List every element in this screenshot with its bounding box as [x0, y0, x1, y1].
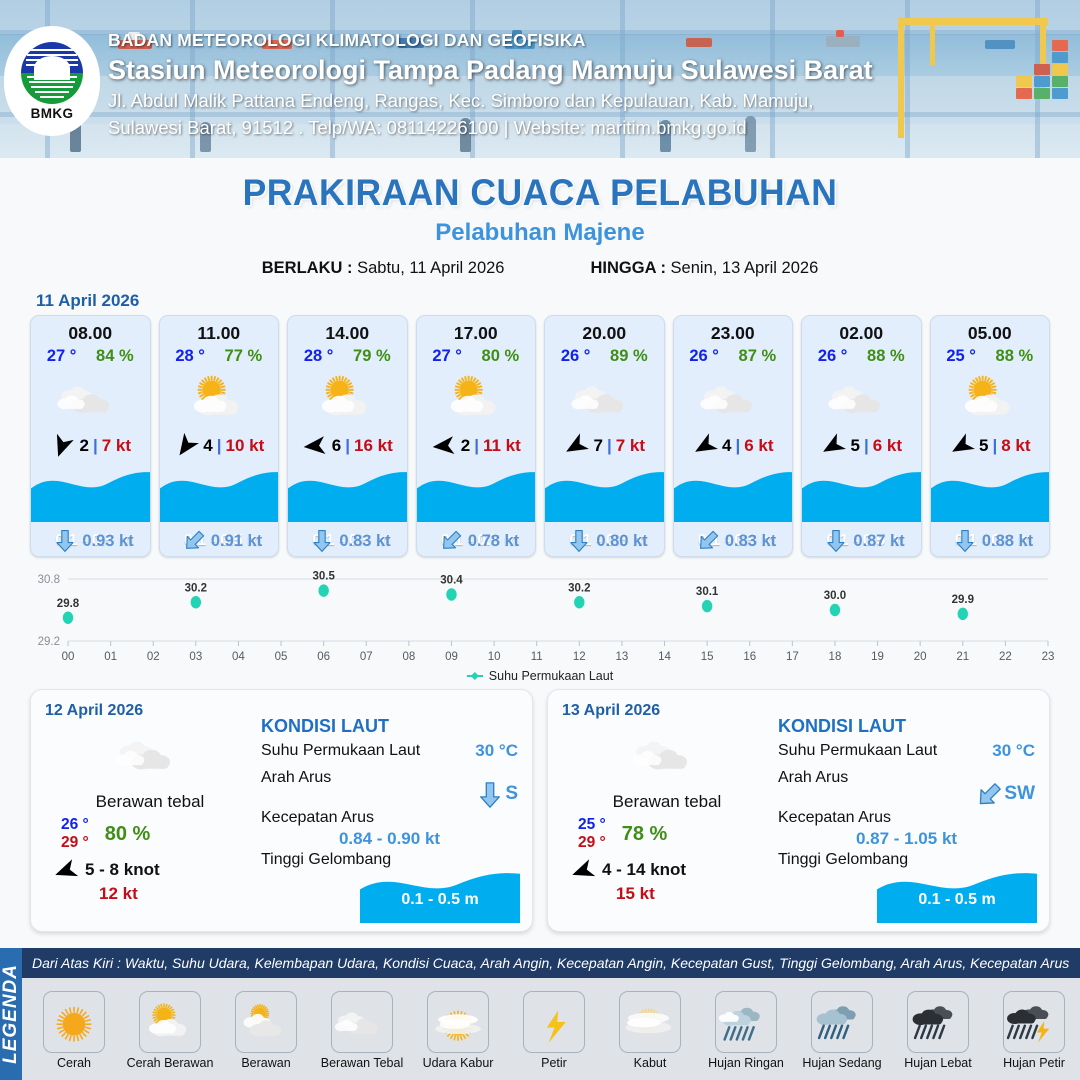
current-direction-label: Arah Arus	[261, 769, 331, 786]
legend-cerah-berawan-icon	[139, 991, 201, 1053]
wind-direction-value: 4	[722, 436, 731, 456]
legend-section: LEGENDA Dari Atas Kiri : Waktu, Suhu Uda…	[0, 948, 1080, 1080]
wind-direction-arrow-icon	[563, 433, 589, 459]
forecast-temperature: 27 °	[432, 347, 462, 366]
current-direction-arrow-down-icon	[477, 781, 501, 807]
daily-panel-list: 12 April 2026 Berawan tebal 26 ° 29 °	[0, 683, 1080, 932]
wind-direction-value: 5	[850, 436, 859, 456]
current-direction-value: S	[505, 783, 518, 805]
svg-text:29.9: 29.9	[952, 594, 974, 606]
current-direction-value: SW	[1004, 783, 1035, 805]
svg-text:06: 06	[317, 651, 330, 663]
wave-band	[160, 466, 280, 522]
legend-item: Hujan Sedang	[794, 991, 890, 1070]
legend-hujan-sedang-icon	[811, 991, 873, 1053]
forecast-card: 17.00 27 ° 80 % 2 | 11 kt	[416, 315, 537, 557]
weather-berawan-tebal-icon	[562, 724, 772, 784]
current-speed-value: 0.87 - 1.05 kt	[778, 829, 1035, 849]
svg-text:30.0: 30.0	[824, 590, 846, 602]
legend-hujan-lebat-icon	[907, 991, 969, 1053]
wind-speed-value: 8 kt	[1001, 436, 1030, 456]
wind-speed-value: 7 kt	[102, 436, 131, 456]
current-speed-value: 0.84 - 0.90 kt	[261, 829, 518, 849]
svg-text:00: 00	[62, 651, 75, 663]
validity-row: BERLAKU : Sabtu, 11 April 2026 HINGGA : …	[0, 259, 1080, 278]
address-line-1: Jl. Abdul Malik Pattana Endeng, Rangas, …	[108, 89, 873, 113]
svg-text:01: 01	[104, 651, 117, 663]
legend-kabut-icon	[619, 991, 681, 1053]
sst-value: 30 °C	[475, 741, 518, 761]
forecast-humidity: 79 %	[353, 347, 391, 366]
forecast-temperature: 27 °	[47, 347, 77, 366]
legend-udara-kabur-icon	[427, 991, 489, 1053]
sea-condition-title: KONDISI LAUT	[261, 716, 518, 737]
panel-gust-speed: 15 kt	[616, 884, 772, 904]
current-direction-label: Arah Arus	[778, 769, 848, 786]
svg-text:11: 11	[531, 651, 543, 663]
wind-speed-value: 10 kt	[225, 436, 264, 456]
forecast-wind-row: 2 | 7 kt	[31, 429, 150, 463]
wind-separator: |	[992, 436, 997, 456]
bmkg-logo-text: BMKG	[31, 106, 74, 121]
legend-item-label: Petir	[541, 1056, 567, 1070]
title-block: PRAKIRAAN CUACA PELABUHAN Pelabuhan Maje…	[0, 158, 1080, 278]
legend-item-list: Cerah Cerah Berawan Berawan	[22, 978, 1080, 1080]
agency-name: BADAN METEOROLOGI KLIMATOLOGI DAN GEOFIS…	[108, 30, 873, 51]
legend-item-label: Hujan Petir	[1003, 1056, 1065, 1070]
forecast-time: 20.00	[545, 316, 664, 344]
weather-berawan-tebal-icon	[545, 367, 664, 429]
current-speed-value: 0.83 kt	[339, 532, 390, 551]
forecast-wind-row: 7 | 7 kt	[545, 429, 664, 463]
current-direction-arrow-down-left-icon	[976, 781, 1000, 807]
chart-legend: Suhu Permukaan Laut	[24, 669, 1056, 683]
page-title: PRAKIRAAN CUACA PELABUHAN	[22, 172, 1059, 214]
legend-item-label: Hujan Lebat	[904, 1056, 971, 1070]
panel-wind-direction-arrow-icon	[53, 858, 79, 882]
station-name: Stasiun Meteorologi Tampa Padang Mamuju …	[108, 55, 873, 86]
wind-direction-arrow-icon	[302, 433, 328, 459]
current-direction-arrow-down-icon	[825, 529, 847, 553]
forecast-card: 02.00 26 ° 88 % 5	[801, 315, 922, 557]
svg-text:04: 04	[232, 651, 245, 663]
legend-hujan-ringan-icon	[715, 991, 777, 1053]
forecast-humidity: 87 %	[739, 347, 777, 366]
page-header: BMKG BADAN METEOROLOGI KLIMATOLOGI DAN G…	[0, 0, 1080, 158]
address-line-2: Sulawesi Barat, 91512 . Telp/WA: 0811422…	[108, 116, 873, 140]
sst-label: Suhu Permukaan Laut	[778, 742, 937, 760]
svg-text:23: 23	[1042, 651, 1055, 663]
forecast-temperature: 28 °	[175, 347, 205, 366]
svg-text:02: 02	[147, 651, 160, 663]
weather-cerah-berawan-icon	[288, 367, 407, 429]
current-direction-arrow-down-icon	[568, 529, 590, 553]
svg-text:30.1: 30.1	[696, 586, 719, 598]
forecast-time: 02.00	[802, 316, 921, 344]
forecast-card-list: 08.00 27 ° 84 % 2	[0, 315, 1080, 557]
svg-text:10: 10	[488, 651, 501, 663]
legend-description-text: Dari Atas Kiri : Waktu, Suhu Udara, Kele…	[32, 955, 1069, 971]
bmkg-logo-mark	[21, 42, 83, 104]
wind-separator: |	[474, 436, 479, 456]
current-speed-value: 0.88 kt	[982, 532, 1033, 551]
legend-petir-icon	[523, 991, 585, 1053]
current-speed-value: 0.91 kt	[211, 532, 262, 551]
chart-legend-label: Suhu Permukaan Laut	[489, 669, 613, 683]
current-direction-arrow-down-left-icon	[697, 529, 719, 553]
svg-text:30.8: 30.8	[38, 574, 60, 586]
wind-speed-value: 7 kt	[616, 436, 645, 456]
wind-separator: |	[735, 436, 740, 456]
legend-item: Kabut	[602, 991, 698, 1070]
legend-side-text: LEGENDA	[0, 964, 22, 1064]
legend-item: Hujan Ringan	[698, 991, 794, 1070]
current-speed-label: Kecepatan Arus	[778, 809, 891, 826]
legend-item-label: Udara Kabur	[423, 1056, 494, 1070]
forecast-current-row: 0.80 kt	[545, 529, 665, 553]
current-direction-arrow-down-icon	[54, 529, 76, 553]
forecast-wind-row: 4 | 10 kt	[160, 429, 279, 463]
wave-band	[931, 466, 1051, 522]
wind-separator: |	[217, 436, 222, 456]
wave-band	[802, 466, 922, 522]
forecast-temperature: 26 °	[561, 347, 591, 366]
panel-wind-range: 5 - 8 knot	[85, 860, 160, 880]
legend-item-label: Berawan Tebal	[321, 1056, 403, 1070]
valid-from-value: Sabtu, 11 April 2026	[357, 259, 504, 277]
wind-direction-arrow-icon	[431, 433, 457, 459]
chart-legend-marker-icon	[467, 675, 483, 677]
wind-speed-value: 6 kt	[744, 436, 773, 456]
bmkg-logo: BMKG	[4, 26, 100, 136]
weather-cerah-berawan-icon	[160, 367, 279, 429]
valid-from: BERLAKU : Sabtu, 11 April 2026	[262, 259, 505, 278]
wind-direction-value: 7	[593, 436, 602, 456]
panel-wind-direction-arrow-icon	[570, 858, 596, 882]
svg-text:18: 18	[829, 651, 842, 663]
panel-date: 12 April 2026	[45, 702, 255, 720]
legend-description-bar: Dari Atas Kiri : Waktu, Suhu Udara, Kele…	[22, 948, 1080, 978]
panel-condition: Berawan tebal	[562, 792, 772, 812]
forecast-time: 05.00	[931, 316, 1050, 344]
wave-height-label: Tinggi Gelombang	[778, 851, 908, 868]
panel-temp-max: 29 °	[61, 834, 89, 852]
legend-hujan-petir-icon	[1003, 991, 1065, 1053]
legend-item-label: Kabut	[634, 1056, 667, 1070]
sst-chart: 29.230.800010203040506070809101112131415…	[24, 571, 1056, 683]
forecast-card: 14.00 28 ° 79 % 6 | 16 kt	[287, 315, 408, 557]
svg-text:03: 03	[189, 651, 202, 663]
svg-text:07: 07	[360, 651, 373, 663]
wind-direction-arrow-icon	[820, 433, 846, 459]
legend-cerah-icon	[43, 991, 105, 1053]
svg-text:20: 20	[914, 651, 927, 663]
current-speed-value: 0.87 kt	[853, 532, 904, 551]
legend-berawan-icon	[235, 991, 297, 1053]
current-direction-arrow-down-icon	[954, 529, 976, 553]
svg-text:13: 13	[616, 651, 629, 663]
svg-text:29.8: 29.8	[57, 598, 80, 610]
page-subtitle: Pelabuhan Majene	[0, 219, 1080, 247]
wind-direction-arrow-icon	[173, 433, 199, 459]
wind-direction-value: 4	[203, 436, 212, 456]
valid-to-label: HINGGA :	[590, 259, 665, 277]
panel-wind-range: 4 - 14 knot	[602, 860, 686, 880]
svg-text:14: 14	[658, 651, 671, 663]
forecast-temperature: 26 °	[818, 347, 848, 366]
wind-speed-value: 16 kt	[354, 436, 393, 456]
forecast-current-row: 0.78 kt	[417, 529, 537, 553]
forecast-current-row: 0.93 kt	[31, 529, 151, 553]
svg-text:29.2: 29.2	[38, 636, 60, 648]
legend-item: Berawan	[218, 991, 314, 1070]
wind-separator: |	[93, 436, 98, 456]
forecast-time: 11.00	[160, 316, 279, 344]
forecast-card: 23.00 26 ° 87 % 4	[673, 315, 794, 557]
forecast-humidity: 80 %	[482, 347, 520, 366]
panel-gust-speed: 12 kt	[99, 884, 255, 904]
svg-text:12: 12	[573, 651, 586, 663]
forecast-current-row: 0.91 kt	[160, 529, 280, 553]
weather-berawan-tebal-icon	[802, 367, 921, 429]
panel-humidity: 78 %	[622, 823, 668, 846]
valid-to-value: Senin, 13 April 2026	[671, 259, 819, 277]
wave-band	[417, 466, 537, 522]
current-speed-row: Kecepatan Arus 0.84 - 0.90 kt	[261, 809, 518, 849]
weather-berawan-tebal-icon	[45, 724, 255, 784]
panel-temp-max: 29 °	[578, 834, 606, 852]
svg-text:09: 09	[445, 651, 458, 663]
wind-direction-arrow-icon	[692, 433, 718, 459]
panel-date: 13 April 2026	[562, 702, 772, 720]
svg-text:21: 21	[956, 651, 969, 663]
forecast-card: 08.00 27 ° 84 % 2	[30, 315, 151, 557]
legend-item: Cerah Berawan	[122, 991, 218, 1070]
wind-direction-value: 2	[79, 436, 88, 456]
legend-item-label: Berawan	[241, 1056, 290, 1070]
sst-value: 30 °C	[992, 741, 1035, 761]
weather-berawan-tebal-icon	[31, 367, 150, 429]
forecast-day-label: 11 April 2026	[36, 291, 1080, 311]
sst-row: Suhu Permukaan Laut 30 °C	[778, 741, 1035, 761]
weather-cerah-berawan-icon	[931, 367, 1050, 429]
wind-speed-value: 11 kt	[483, 436, 521, 456]
svg-text:22: 22	[999, 651, 1012, 663]
forecast-current-row: 0.88 kt	[931, 529, 1051, 553]
wind-direction-value: 6	[332, 436, 341, 456]
current-direction-row: Arah Arus S	[261, 769, 518, 807]
current-direction-row: Arah Arus SW	[778, 769, 1035, 807]
current-speed-value: 0.93 kt	[82, 532, 133, 551]
daily-forecast-panel: 12 April 2026 Berawan tebal 26 ° 29 °	[30, 689, 533, 932]
wave-height-label: Tinggi Gelombang	[261, 851, 391, 868]
forecast-temperature: 26 °	[689, 347, 719, 366]
current-direction-arrow-down-icon	[311, 529, 333, 553]
panel-wave-height-value: 0.1 - 0.5 m	[877, 891, 1037, 909]
legend-side-label: LEGENDA	[0, 948, 22, 1080]
forecast-card: 11.00 28 ° 77 % 4 | 10 kt	[159, 315, 280, 557]
svg-text:16: 16	[743, 651, 756, 663]
svg-text:05: 05	[275, 651, 288, 663]
wave-band	[31, 466, 151, 522]
svg-text:15: 15	[701, 651, 714, 663]
sea-condition-title: KONDISI LAUT	[778, 716, 1035, 737]
wind-direction-value: 5	[979, 436, 988, 456]
forecast-wind-row: 2 | 11 kt	[417, 429, 536, 463]
wind-direction-arrow-icon	[49, 433, 75, 459]
weather-cerah-berawan-icon	[417, 367, 536, 429]
forecast-card: 05.00 25 ° 88 % 5 | 8 kt	[930, 315, 1051, 557]
panel-condition: Berawan tebal	[45, 792, 255, 812]
legend-item-label: Cerah Berawan	[127, 1056, 214, 1070]
current-speed-value: 0.83 kt	[725, 532, 776, 551]
legend-item: Hujan Lebat	[890, 991, 986, 1070]
forecast-humidity: 77 %	[225, 347, 263, 366]
forecast-wind-row: 6 | 16 kt	[288, 429, 407, 463]
svg-text:08: 08	[402, 651, 415, 663]
daily-forecast-panel: 13 April 2026 Berawan tebal 25 ° 29 °	[547, 689, 1050, 932]
wind-direction-value: 2	[461, 436, 470, 456]
forecast-current-row: 0.83 kt	[288, 529, 408, 553]
forecast-humidity: 84 %	[96, 347, 134, 366]
svg-text:30.5: 30.5	[312, 571, 335, 583]
wind-separator: |	[607, 436, 612, 456]
svg-text:17: 17	[786, 651, 799, 663]
forecast-humidity: 88 %	[996, 347, 1034, 366]
forecast-time: 14.00	[288, 316, 407, 344]
panel-temp-min: 25 °	[578, 816, 606, 834]
forecast-temperature: 28 °	[304, 347, 334, 366]
svg-text:30.2: 30.2	[185, 582, 207, 594]
wind-direction-arrow-icon	[949, 433, 975, 459]
legend-item: Cerah	[26, 991, 122, 1070]
current-speed-label: Kecepatan Arus	[261, 809, 374, 826]
current-speed-value: 0.78 kt	[468, 532, 519, 551]
wind-separator: |	[864, 436, 869, 456]
sst-label: Suhu Permukaan Laut	[261, 742, 420, 760]
legend-berawan-tebal-icon	[331, 991, 393, 1053]
legend-item: Hujan Petir	[986, 991, 1080, 1070]
panel-humidity: 80 %	[105, 823, 151, 846]
forecast-time: 08.00	[31, 316, 150, 344]
current-speed-value: 0.80 kt	[596, 532, 647, 551]
legend-item-label: Cerah	[57, 1056, 91, 1070]
legend-item: Berawan Tebal	[314, 991, 410, 1070]
legend-item-label: Hujan Ringan	[708, 1056, 784, 1070]
forecast-current-row: 0.87 kt	[802, 529, 922, 553]
panel-temp-min: 26 °	[61, 816, 89, 834]
current-direction-arrow-down-left-icon	[440, 529, 462, 553]
forecast-humidity: 88 %	[867, 347, 905, 366]
weather-berawan-tebal-icon	[674, 367, 793, 429]
wave-band	[545, 466, 665, 522]
valid-to: HINGGA : Senin, 13 April 2026	[590, 259, 818, 278]
forecast-time: 17.00	[417, 316, 536, 344]
current-speed-row: Kecepatan Arus 0.87 - 1.05 kt	[778, 809, 1035, 849]
wind-speed-value: 6 kt	[873, 436, 902, 456]
current-direction-arrow-down-left-icon	[183, 529, 205, 553]
svg-text:19: 19	[871, 651, 884, 663]
forecast-wind-row: 5 | 6 kt	[802, 429, 921, 463]
forecast-card: 20.00 26 ° 89 % 7	[544, 315, 665, 557]
valid-from-label: BERLAKU :	[262, 259, 353, 277]
forecast-humidity: 89 %	[610, 347, 648, 366]
legend-item: Petir	[506, 991, 602, 1070]
svg-text:30.2: 30.2	[568, 582, 590, 594]
forecast-temperature: 25 °	[946, 347, 976, 366]
forecast-wind-row: 5 | 8 kt	[931, 429, 1050, 463]
sst-row: Suhu Permukaan Laut 30 °C	[261, 741, 518, 761]
panel-wave-height-value: 0.1 - 0.5 m	[360, 891, 520, 909]
legend-item-label: Hujan Sedang	[802, 1056, 881, 1070]
forecast-current-row: 0.83 kt	[674, 529, 794, 553]
svg-text:30.4: 30.4	[440, 575, 463, 587]
wave-band	[288, 466, 408, 522]
wave-band	[674, 466, 794, 522]
forecast-time: 23.00	[674, 316, 793, 344]
wind-separator: |	[345, 436, 350, 456]
legend-item: Udara Kabur	[410, 991, 506, 1070]
forecast-wind-row: 4 | 6 kt	[674, 429, 793, 463]
